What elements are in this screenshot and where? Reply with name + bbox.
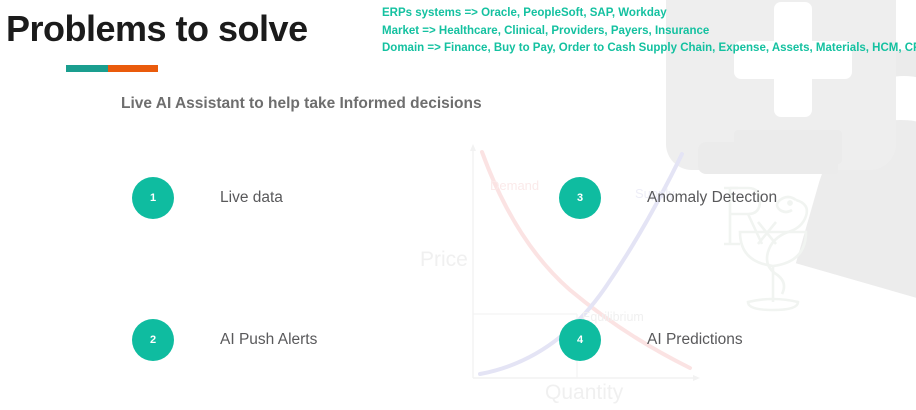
chart-y-axis-label: Price (420, 248, 468, 272)
chart-series-label-demand: Demand (490, 178, 539, 193)
feature-label-3: Anomaly Detection (647, 189, 777, 207)
chart-y-axis-arrow (470, 144, 476, 151)
slide-canvas: Problems to solve ERPs systems => Oracle… (0, 0, 916, 410)
feature-label-4: AI Predictions (647, 331, 743, 349)
chart-x-axis-arrow (693, 375, 700, 381)
feature-number-badge-4: 4 (559, 319, 601, 361)
shelf-shape-upper (734, 130, 842, 164)
feature-item-3[interactable]: 3 Anomaly Detection (559, 177, 777, 219)
feature-number-badge-1: 1 (132, 177, 174, 219)
context-meta-block: ERPs systems => Oracle, PeopleSoft, SAP,… (382, 5, 912, 58)
meta-line-domain: Domain => Finance, Buy to Pay, Order to … (382, 40, 912, 58)
feature-item-2[interactable]: 2 AI Push Alerts (132, 319, 317, 361)
feature-label-2: AI Push Alerts (220, 331, 317, 349)
rule-segment-orange (108, 65, 158, 72)
feature-label-1: Live data (220, 189, 283, 207)
feature-number-badge-3: 3 (559, 177, 601, 219)
page-title: Problems to solve (6, 6, 308, 51)
feature-item-1[interactable]: 1 Live data (132, 177, 283, 219)
title-accent-rule (66, 65, 158, 72)
feature-item-4[interactable]: 4 AI Predictions (559, 319, 743, 361)
rule-segment-teal (66, 65, 108, 72)
fan-shape-icon (796, 100, 916, 310)
subtitle: Live AI Assistant to help take Informed … (121, 95, 482, 113)
shelf-shape-lower (698, 142, 838, 174)
meta-line-market: Market => Healthcare, Clinical, Provider… (382, 23, 912, 41)
feature-number-badge-2: 2 (132, 319, 174, 361)
chart-x-axis-label: Quantity (545, 381, 623, 405)
blob-shape-icon (808, 44, 916, 236)
meta-line-erp-systems: ERPs systems => Oracle, PeopleSoft, SAP,… (382, 5, 912, 23)
